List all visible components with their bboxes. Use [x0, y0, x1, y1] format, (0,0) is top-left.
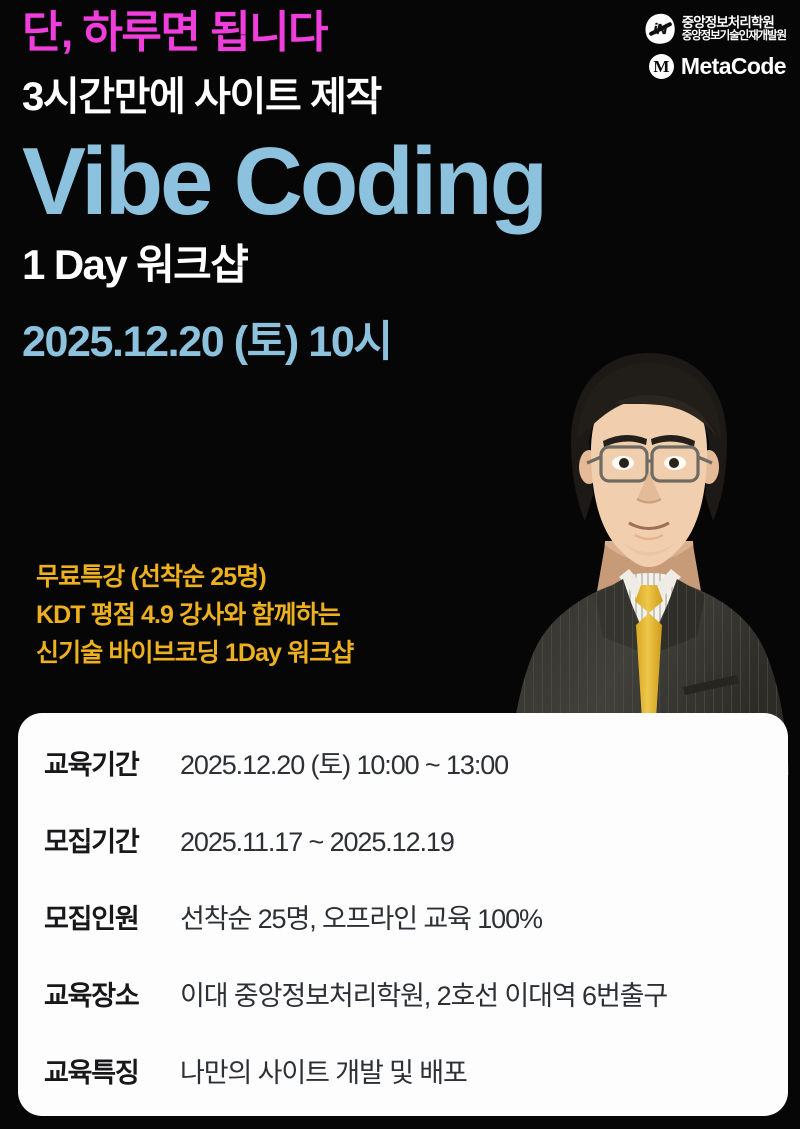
info-row-value: 이대 중앙정보처리학원, 2호선 이대역 6번출구 [180, 974, 667, 1013]
highlight-line: 무료특강 (선착순 25명) [36, 558, 353, 596]
brand-logo: M MetaCode [649, 53, 786, 80]
metacode-mark-icon: M [649, 54, 674, 79]
course-info-card: 교육기간 2025.12.20 (토) 10:00 ~ 13:00 모집기간 2… [18, 713, 788, 1116]
highlight-line: KDT 평점 4.9 강사와 함께하는 [36, 596, 353, 634]
info-row-label: 교육특징 [44, 1051, 162, 1090]
metacode-wordmark: MetaCode [681, 53, 786, 80]
poster-tagline: 1 Day 워크샵 [22, 241, 662, 288]
info-row-label: 교육장소 [44, 974, 162, 1013]
institute-mark-glyph: iN [645, 14, 675, 44]
promo-poster: iN 중앙정보처리학원 중앙정보기술인재개발원 M MetaCode [0, 0, 800, 1129]
logo-stack: iN 중앙정보처리학원 중앙정보기술인재개발원 M MetaCode [645, 14, 786, 80]
info-row-value: 2025.11.17 ~ 2025.12.19 [180, 827, 454, 858]
institute-name-line2: 중앙정보기술인재개발원 [682, 30, 786, 43]
poster-subhead: 3시간만에 사이트 제작 [22, 75, 662, 119]
info-row: 교육장소 이대 중앙정보처리학원, 2호선 이대역 6번출구 [44, 974, 762, 1013]
info-row-value: 선착순 25명, 오프라인 교육 100% [180, 897, 542, 936]
institute-logo-text: 중앙정보처리학원 중앙정보기술인재개발원 [682, 15, 786, 43]
headline-block: 단, 하루면 됩니다 3시간만에 사이트 제작 Vibe Coding 1 Da… [22, 0, 662, 366]
info-row: 모집기간 2025.11.17 ~ 2025.12.19 [44, 820, 762, 859]
highlight-list: 무료특강 (선착순 25명) KDT 평점 4.9 강사와 함께하는 신기술 바… [36, 558, 353, 672]
page-title: Vibe Coding [22, 125, 662, 238]
poster-datetime: 2025.12.20 (토) 10시 [22, 318, 662, 366]
institute-logo: iN 중앙정보처리학원 중앙정보기술인재개발원 [645, 14, 786, 44]
info-row-label: 모집인원 [44, 897, 162, 936]
info-row: 교육기간 2025.12.20 (토) 10:00 ~ 13:00 [44, 743, 762, 782]
info-row-value: 나만의 사이트 개발 및 배포 [180, 1051, 467, 1090]
highlight-line: 신기술 바이브코딩 1Day 워크샵 [36, 634, 353, 672]
instructor-portrait [497, 345, 800, 775]
info-row: 교육특징 나만의 사이트 개발 및 배포 [44, 1051, 762, 1090]
info-row-value: 2025.12.20 (토) 10:00 ~ 13:00 [180, 743, 508, 782]
institute-name-line1: 중앙정보처리학원 [682, 15, 786, 30]
info-row-label: 교육기간 [44, 743, 162, 782]
info-row-label: 모집기간 [44, 820, 162, 859]
institute-mark-icon: iN [645, 14, 675, 44]
info-row: 모집인원 선착순 25명, 오프라인 교육 100% [44, 897, 762, 936]
poster-kicker: 단, 하루면 됩니다 [22, 8, 662, 57]
